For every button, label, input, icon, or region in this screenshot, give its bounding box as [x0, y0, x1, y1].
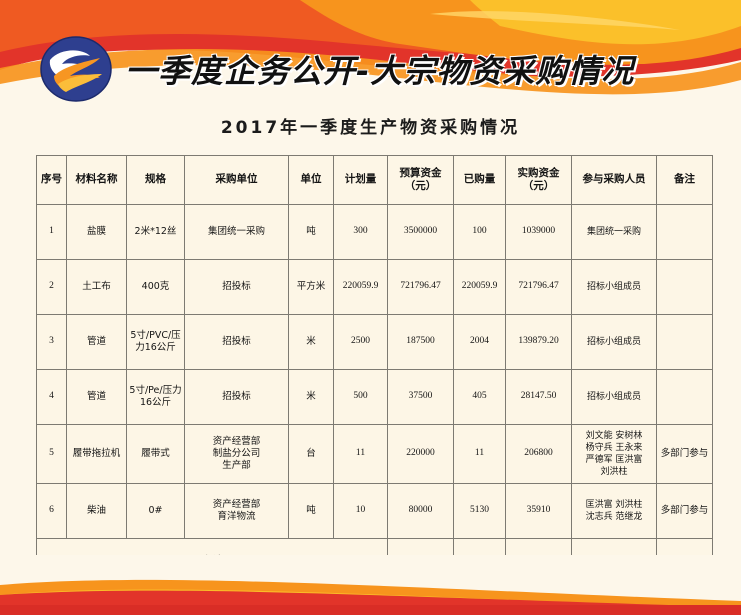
cell-index: 5: [37, 425, 67, 484]
col-header-purchase-unit: 采购单位: [185, 156, 289, 205]
cell-unit: 米: [289, 315, 334, 370]
cell-purchase-unit: 资产经营部 制盐分公司 生产部: [185, 425, 289, 484]
cell-material: 柴油: [67, 484, 127, 539]
table-body: 1 盐膜 2米*12丝 集团统一采购 吨 300 3500000 100 103…: [37, 205, 713, 584]
col-header-actual: 实购资金 （元）: [506, 156, 572, 205]
cell-planned-qty: 300: [334, 205, 388, 260]
header-banner: 一季度企务公开-大宗物资采购情况: [0, 0, 741, 108]
cell-index: 1: [37, 205, 67, 260]
cell-purchased-qty: 5130: [454, 484, 506, 539]
col-header-planned-qty: 计划量: [334, 156, 388, 205]
col-header-people: 参与采购人员: [572, 156, 657, 205]
cell-planned-qty: 2500: [334, 315, 388, 370]
table-row: 4 管道 5寸/Pe/压力 16公斤 招投标 米 500 37500 405 2…: [37, 370, 713, 425]
cell-purchased-qty: 220059.9: [454, 260, 506, 315]
cell-actual: 721796.47: [506, 260, 572, 315]
header-row: 序号 材料名称 规格 采购单位 单位 计划量 预算资金 （元） 已购量 实购资金…: [37, 156, 713, 205]
cell-purchased-qty: 100: [454, 205, 506, 260]
cell-unit: 吨: [289, 205, 334, 260]
table-row: 5 履带拖拉机 履带式 资产经营部 制盐分公司 生产部 台 11 220000 …: [37, 425, 713, 484]
cell-spec: 5寸/PVC/压 力16公斤: [127, 315, 185, 370]
cell-people: 招标小组成员: [572, 370, 657, 425]
cell-planned-qty: 11: [334, 425, 388, 484]
procurement-table: 序号 材料名称 规格 采购单位 单位 计划量 预算资金 （元） 已购量 实购资金…: [36, 155, 713, 584]
table-row: 1 盐膜 2米*12丝 集团统一采购 吨 300 3500000 100 103…: [37, 205, 713, 260]
report-subtitle: 2017年一季度生产物资采购情况: [0, 113, 741, 138]
col-header-index: 序号: [37, 156, 67, 205]
cell-spec: 履带式: [127, 425, 185, 484]
cell-purchase-unit: 招投标: [185, 315, 289, 370]
cell-budget: 3500000: [388, 205, 454, 260]
cell-unit: 台: [289, 425, 334, 484]
cell-unit: 平方米: [289, 260, 334, 315]
cell-purchase-unit: 资产经营部 育洋物流: [185, 484, 289, 539]
footer-banner: [0, 555, 741, 615]
cell-index: 4: [37, 370, 67, 425]
cell-material: 履带拖拉机: [67, 425, 127, 484]
cell-remark: 多部门参与: [657, 425, 713, 484]
cell-spec: 0#: [127, 484, 185, 539]
table-header: 序号 材料名称 规格 采购单位 单位 计划量 预算资金 （元） 已购量 实购资金…: [37, 156, 713, 205]
cell-budget: 187500: [388, 315, 454, 370]
cell-spec: 5寸/Pe/压力 16公斤: [127, 370, 185, 425]
cell-actual: 206800: [506, 425, 572, 484]
table-row: 2 土工布 400克 招投标 平方米 220059.9 721796.47 22…: [37, 260, 713, 315]
cell-budget: 80000: [388, 484, 454, 539]
procurement-table-wrapper: 序号 材料名称 规格 采购单位 单位 计划量 预算资金 （元） 已购量 实购资金…: [36, 155, 712, 584]
cell-planned-qty: 220059.9: [334, 260, 388, 315]
cell-material: 管道: [67, 315, 127, 370]
banner-title: 一季度企务公开-大宗物资采购情况: [125, 46, 725, 96]
cell-planned-qty: 10: [334, 484, 388, 539]
cell-remark: [657, 205, 713, 260]
cell-purchase-unit: 集团统一采购: [185, 205, 289, 260]
cell-planned-qty: 500: [334, 370, 388, 425]
col-header-material: 材料名称: [67, 156, 127, 205]
cell-material: 盐膜: [67, 205, 127, 260]
cell-spec: 2米*12丝: [127, 205, 185, 260]
cell-unit: 米: [289, 370, 334, 425]
col-header-purchased-qty: 已购量: [454, 156, 506, 205]
cell-budget: 721796.47: [388, 260, 454, 315]
cell-index: 2: [37, 260, 67, 315]
poster-page: 一季度企务公开-大宗物资采购情况 2017年一季度生产物资采购情况 序号 材料名…: [0, 0, 741, 615]
cell-actual: 28147.50: [506, 370, 572, 425]
cell-actual: 35910: [506, 484, 572, 539]
cell-index: 3: [37, 315, 67, 370]
cell-remark: 多部门参与: [657, 484, 713, 539]
cell-spec: 400克: [127, 260, 185, 315]
cell-material: 土工布: [67, 260, 127, 315]
col-header-remark: 备注: [657, 156, 713, 205]
cell-remark: [657, 370, 713, 425]
table-row: 3 管道 5寸/PVC/压 力16公斤 招投标 米 2500 187500 20…: [37, 315, 713, 370]
cell-remark: [657, 315, 713, 370]
cell-actual: 1039000: [506, 205, 572, 260]
cell-people: 匡洪富 刘洪柱 沈志兵 范继龙: [572, 484, 657, 539]
cell-purchase-unit: 招投标: [185, 370, 289, 425]
cell-budget: 37500: [388, 370, 454, 425]
cell-index: 6: [37, 484, 67, 539]
cell-purchased-qty: 11: [454, 425, 506, 484]
cell-people: 招标小组成员: [572, 315, 657, 370]
table-row: 6 柴油 0# 资产经营部 育洋物流 吨 10 80000 5130 35910…: [37, 484, 713, 539]
cell-people: 集团统一采购: [572, 205, 657, 260]
company-logo: [38, 36, 114, 102]
col-header-unit: 单位: [289, 156, 334, 205]
cell-purchased-qty: 405: [454, 370, 506, 425]
cell-purchase-unit: 招投标: [185, 260, 289, 315]
col-header-spec: 规格: [127, 156, 185, 205]
cell-material: 管道: [67, 370, 127, 425]
cell-people: 招标小组成员: [572, 260, 657, 315]
col-header-budget: 预算资金 （元）: [388, 156, 454, 205]
cell-remark: [657, 260, 713, 315]
cell-budget: 220000: [388, 425, 454, 484]
cell-purchased-qty: 2004: [454, 315, 506, 370]
cell-unit: 吨: [289, 484, 334, 539]
cell-people: 刘文能 安树林 杨守兵 王永来 严德军 匡洪富 刘洪柱: [572, 425, 657, 484]
cell-actual: 139879.20: [506, 315, 572, 370]
